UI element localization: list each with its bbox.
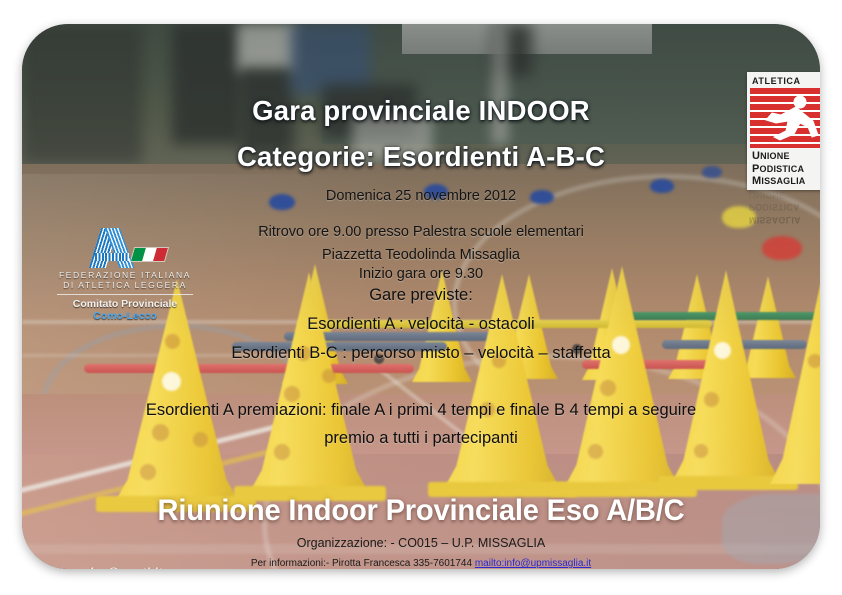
meeting-line-1: Ritrovo ore 9.00 presso Palestra scuole … xyxy=(22,224,820,240)
events-heading: Gare previste: xyxy=(22,286,820,305)
contact-text: Per informazioni:- Pirotta Francesca 335… xyxy=(251,558,475,569)
poster-card: FEDERAZIONE ITALIANA DI ATLETICA LEGGERA… xyxy=(22,24,820,569)
upm-top-label: ATLETICA xyxy=(750,75,820,87)
awards-line-2: premio a tutti i partecipanti xyxy=(22,429,820,448)
organization-line: Organizzazione: - CO015 – U.P. MISSAGLIA xyxy=(22,536,820,550)
email-link[interactable]: mailto:info@upmissaglia.it xyxy=(475,558,591,569)
meeting-line-3: Inizio gara ore 9.30 xyxy=(22,266,820,282)
poster-date: Domenica 25 novembre 2012 xyxy=(22,188,820,204)
poster-title-line1: Gara provinciale INDOOR xyxy=(22,95,820,127)
watermark: alessandro@sesti.it xyxy=(36,565,162,569)
poster: FEDERAZIONE ITALIANA DI ATLETICA LEGGERA… xyxy=(0,0,842,595)
awards-line-1: Esordienti A premiazioni: finale A i pri… xyxy=(22,401,820,420)
banner-heading: Riunione Indoor Provinciale Eso A/B/C xyxy=(34,494,808,528)
events-line-2: Esordienti B-C : percorso misto – veloci… xyxy=(22,344,820,363)
meeting-line-2: Piazzetta Teodolinda Missaglia xyxy=(22,247,820,263)
poster-title-line2: Categorie: Esordienti A-B-C xyxy=(22,141,820,173)
events-line-1: Esordienti A : velocità - ostacoli xyxy=(22,315,820,334)
